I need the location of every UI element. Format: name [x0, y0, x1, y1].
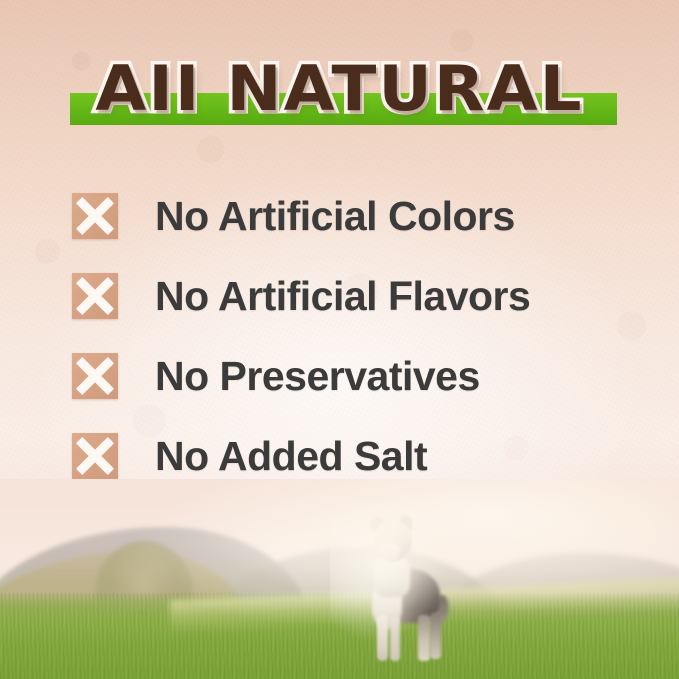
x-mark-icon — [72, 433, 118, 479]
benefit-label: No Added Salt — [155, 436, 427, 477]
benefit-label: No Artificial Flavors — [155, 276, 530, 317]
dog-back-left-leg — [418, 615, 430, 661]
landscape-photo — [0, 479, 679, 679]
dog — [352, 517, 448, 665]
x-mark-icon — [72, 193, 118, 239]
dog-back-right-leg — [430, 613, 441, 659]
product-feature-poster: AII NATURAL No Artificial Colors No Arti… — [0, 0, 679, 679]
x-mark-icon — [72, 353, 118, 399]
dog-snout — [380, 543, 400, 561]
benefit-list: No Artificial Colors No Artificial Flavo… — [72, 176, 632, 496]
dog-front-left-leg — [377, 615, 388, 661]
list-item: No Artificial Flavors — [72, 256, 632, 336]
x-mark-icon — [72, 273, 118, 319]
title-banner: AII NATURAL — [0, 46, 679, 141]
list-item: No Preservatives — [72, 336, 632, 416]
benefit-label: No Preservatives — [155, 356, 480, 397]
dog-front-right-leg — [390, 617, 400, 661]
banner-title: AII NATURAL — [0, 46, 679, 132]
list-item: No Artificial Colors — [72, 176, 632, 256]
benefit-label: No Artificial Colors — [155, 196, 515, 237]
